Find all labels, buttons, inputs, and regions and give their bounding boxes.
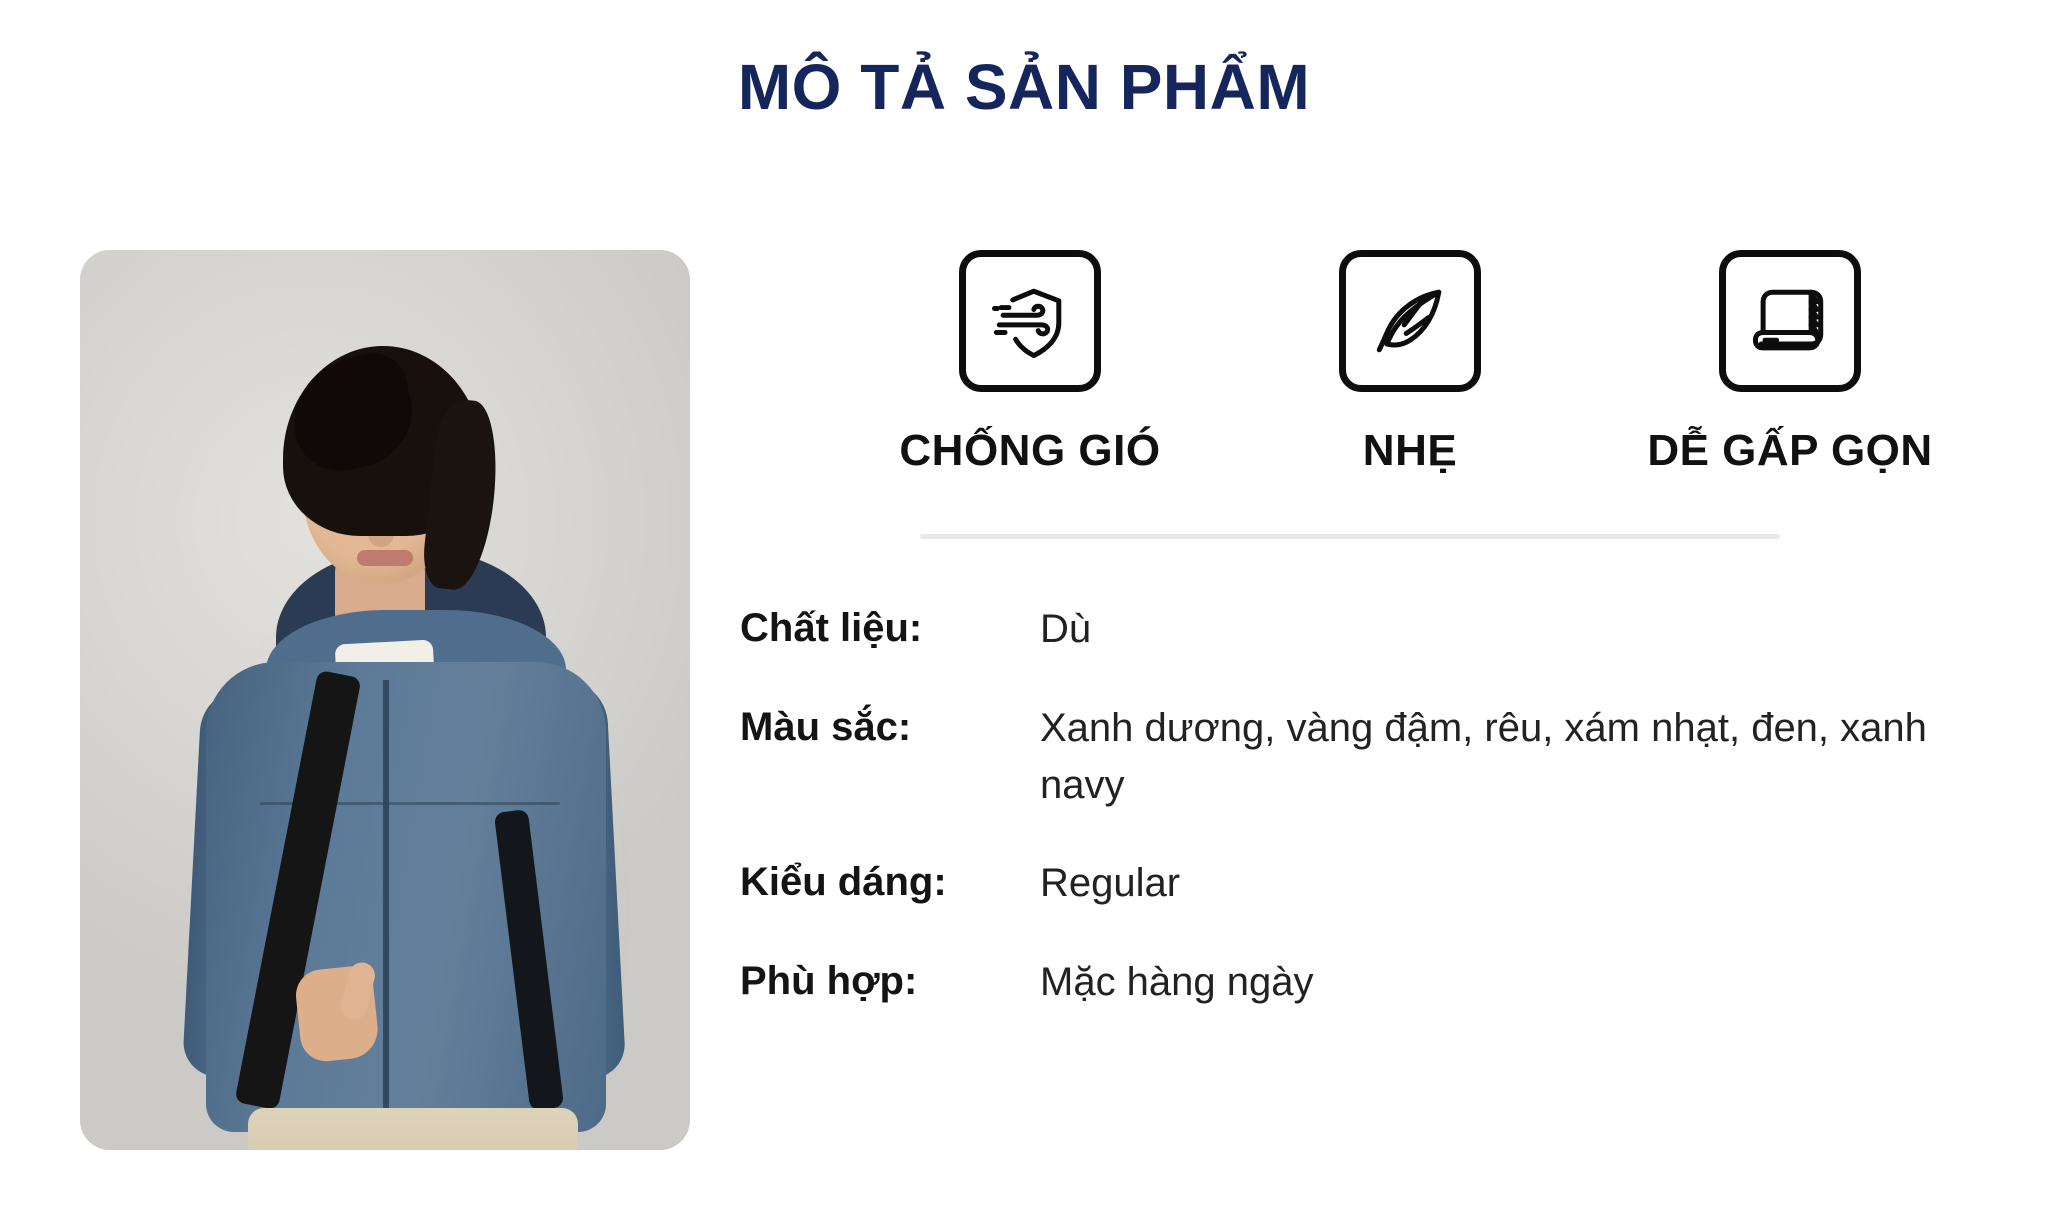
spec-value: Mặc hàng ngày — [1040, 954, 1314, 1011]
specification-list: Chất liệu: Dù Màu sắc: Xanh dương, vàng … — [720, 601, 1990, 1011]
product-photo — [80, 250, 690, 1150]
page-title: MÔ TẢ SẢN PHẨM — [0, 52, 2048, 122]
spec-value: Dù — [1040, 601, 1091, 658]
wind-shield-icon — [959, 250, 1101, 392]
jacket-zipper — [383, 680, 389, 1128]
spec-row-occasion: Phù hợp: Mặc hàng ngày — [740, 954, 1990, 1011]
spec-row-colors: Màu sắc: Xanh dương, vàng đậm, rêu, xám … — [740, 700, 1990, 814]
feature-item-windproof: CHỐNG GIÓ — [840, 250, 1220, 476]
spec-value: Regular — [1040, 855, 1180, 912]
feature-item-foldable: DỄ GẤP GỌN — [1600, 250, 1980, 476]
folded-fabric-icon — [1719, 250, 1861, 392]
product-details-column: CHỐNG GIÓ NHẸ — [720, 250, 1990, 1011]
model-mouth — [357, 550, 413, 566]
spec-label: Kiểu dáng: — [740, 855, 1040, 909]
model-pants — [248, 1108, 578, 1150]
spec-label: Màu sắc: — [740, 700, 1040, 754]
product-image-card — [80, 250, 690, 1150]
feature-list: CHỐNG GIÓ NHẸ — [720, 250, 1990, 476]
feature-label: NHẸ — [1363, 426, 1457, 476]
spec-label: Phù hợp: — [740, 954, 1040, 1008]
spec-label: Chất liệu: — [740, 601, 1040, 655]
spec-row-material: Chất liệu: Dù — [740, 601, 1990, 658]
feature-label: DỄ GẤP GỌN — [1647, 426, 1932, 476]
spec-value: Xanh dương, vàng đậm, rêu, xám nhạt, đen… — [1040, 700, 1940, 814]
feature-item-lightweight: NHẸ — [1220, 250, 1600, 476]
section-divider — [920, 534, 1780, 539]
spec-row-fit: Kiểu dáng: Regular — [740, 855, 1990, 912]
feather-icon — [1339, 250, 1481, 392]
feature-label: CHỐNG GIÓ — [899, 426, 1160, 476]
